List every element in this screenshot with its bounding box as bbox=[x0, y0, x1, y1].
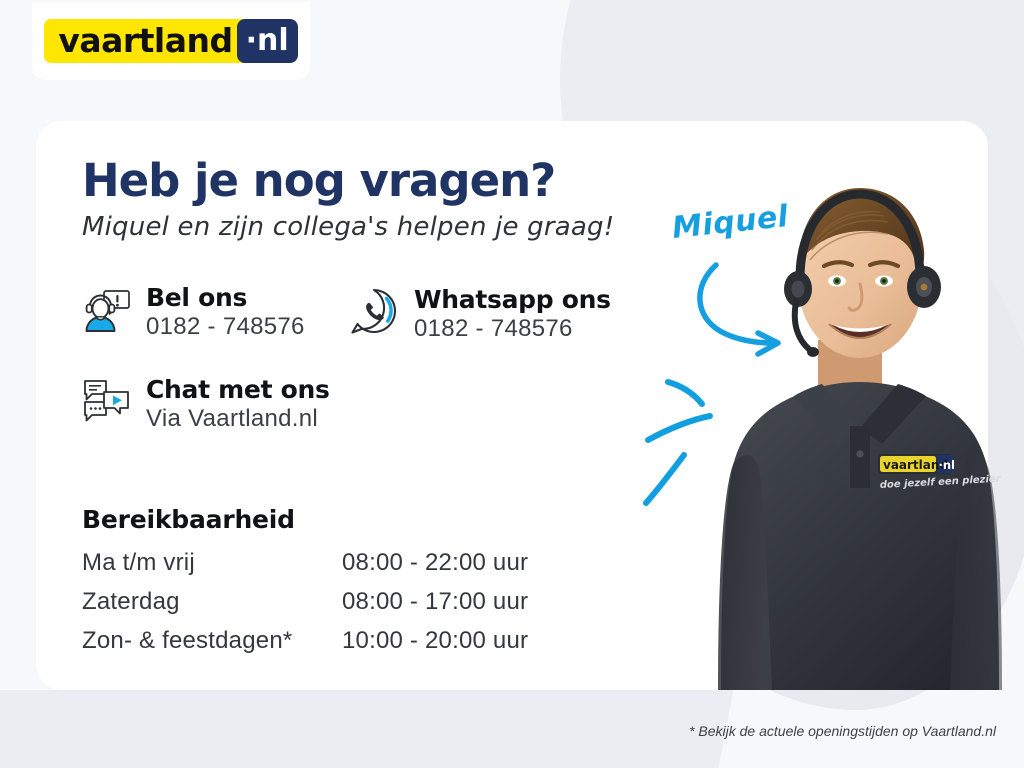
contact-text-chat: Chat met ons Via Vaartland.nl bbox=[146, 375, 330, 436]
headset-person-icon bbox=[80, 283, 132, 335]
contact-option-chat[interactable]: Chat met ons Via Vaartland.nl bbox=[80, 375, 330, 436]
contact-option-whatsapp[interactable]: Whatsapp ons 0182 - 748576 bbox=[348, 285, 611, 346]
table-row: Zon- & feestdagen* 10:00 - 20:00 uur bbox=[82, 627, 528, 666]
chat-bubbles-icon bbox=[80, 375, 132, 427]
contact-title-chat: Chat met ons bbox=[146, 377, 330, 403]
contact-value-chat[interactable]: Via Vaartland.nl bbox=[146, 403, 330, 435]
table-row: Zaterdag 08:00 - 17:00 uur bbox=[82, 588, 528, 627]
availability-day: Ma t/m vrij bbox=[82, 549, 342, 588]
logo-tld-badge: ·nl bbox=[237, 19, 298, 63]
availability-day: Zon- & feestdagen* bbox=[82, 627, 342, 666]
whatsapp-icon bbox=[348, 285, 400, 337]
availability-table: Ma t/m vrij 08:00 - 22:00 uur Zaterdag 0… bbox=[82, 549, 528, 666]
decorative-band-bottom bbox=[0, 690, 734, 768]
svg-text:·nl: ·nl bbox=[939, 458, 956, 472]
footnote-opening-hours[interactable]: * Bekijk de actuele openingstijden op Va… bbox=[689, 723, 996, 739]
contact-value-phone[interactable]: 0182 - 748576 bbox=[146, 311, 305, 343]
contact-text-phone: Bel ons 0182 - 748576 bbox=[146, 283, 305, 344]
page-title: Heb je nog vragen? bbox=[82, 154, 555, 207]
contact-option-phone[interactable]: Bel ons 0182 - 748576 bbox=[80, 283, 305, 344]
page-subtitle: Miquel en zijn collega's helpen je graag… bbox=[82, 212, 614, 242]
contact-title-whatsapp: Whatsapp ons bbox=[414, 287, 611, 313]
availability-hours: 08:00 - 22:00 uur bbox=[342, 549, 528, 588]
contact-title-phone: Bel ons bbox=[146, 285, 305, 311]
table-row: Ma t/m vrij 08:00 - 22:00 uur bbox=[82, 549, 528, 588]
logo-wordmark: vaartland bbox=[44, 19, 244, 63]
availability-day: Zaterdag bbox=[82, 588, 342, 627]
contact-value-whatsapp[interactable]: 0182 - 748576 bbox=[414, 313, 611, 345]
availability-title: Bereikbaarheid bbox=[82, 505, 295, 534]
contact-text-whatsapp: Whatsapp ons 0182 - 748576 bbox=[414, 285, 611, 346]
availability-hours: 10:00 - 20:00 uur bbox=[342, 627, 528, 666]
logo-lockup: vaartland ·nl bbox=[44, 19, 297, 63]
availability-hours: 08:00 - 17:00 uur bbox=[342, 588, 528, 627]
brand-logo[interactable]: vaartland ·nl bbox=[32, 2, 310, 80]
